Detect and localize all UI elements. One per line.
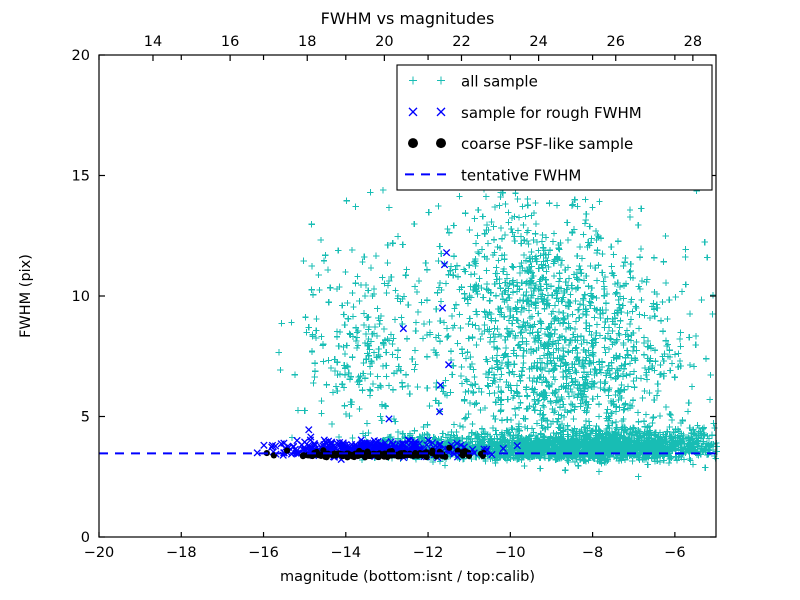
x-tick-label-top: 20 [375,34,393,50]
scatter-plot[interactable]: −20−18−16−14−12−10−8−6magnitude (bottom:… [0,0,800,600]
y-tick-label: 20 [72,48,90,64]
legend[interactable]: all samplesample for rough FWHMcoarse PS… [397,65,712,190]
x-tick-label-top: 22 [452,34,470,50]
x-tick-label-top: 14 [144,34,162,50]
x-tick-label-top: 28 [684,34,702,50]
x-tick-label-bottom: −16 [248,545,279,561]
y-tick-label: 10 [72,289,90,305]
legend-label-2: coarse PSF-like sample [461,135,633,153]
x-tick-label-bottom: −8 [582,545,603,561]
x-tick-label-bottom: −12 [413,545,444,561]
x-tick-label-bottom: −20 [84,545,115,561]
x-tick-label-top: 16 [221,34,239,50]
x-tick-label-top: 24 [529,34,547,50]
legend-label-3: tentative FWHM [461,166,581,184]
x-tick-label-bottom: −18 [166,545,197,561]
x-tick-label-bottom: −14 [330,545,361,561]
legend-label-1: sample for rough FWHM [461,104,642,122]
x-tick-label-top: 26 [607,34,625,50]
legend-label-0: all sample [461,73,538,91]
x-tick-label-top: 18 [298,34,316,50]
y-tick-label: 15 [72,169,90,185]
figure-canvas: −20−18−16−14−12−10−8−6magnitude (bottom:… [0,0,800,600]
x-tick-label-bottom: −6 [664,545,685,561]
x-axis-label: magnitude (bottom:isnt / top:calib) [280,569,535,585]
y-tick-label: 0 [81,530,90,546]
y-tick-label: 5 [81,410,90,426]
y-axis-label: FWHM (pix) [18,254,34,338]
x-tick-label-bottom: −10 [495,545,526,561]
page-title: FWHM vs magnitudes [321,9,495,28]
